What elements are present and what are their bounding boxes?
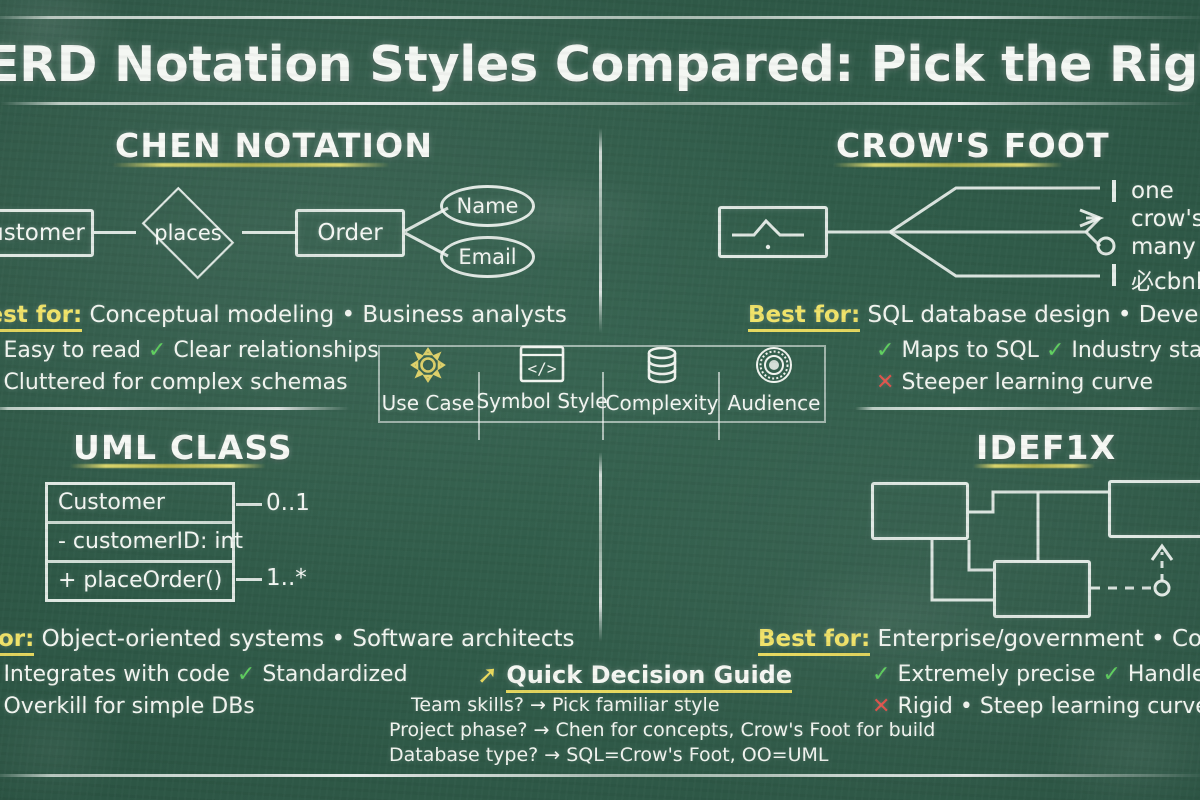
crows-foot-legend-one: one: [1131, 178, 1174, 204]
uml-class-name: Customer: [48, 485, 232, 521]
center-divider-top: [599, 128, 602, 333]
idef1x-con-1: Rigid • Steep learning curve: [897, 694, 1200, 719]
quick-guide-title-row: ➚ Quick Decision Guide: [477, 660, 792, 689]
section-heading-chen: CHEN NOTATION: [115, 126, 433, 165]
idef1x-best-for-value: Enterprise/government • Complex sy: [877, 626, 1200, 652]
legend-label-many: many: [1131, 234, 1196, 260]
crows-foot-best-for: Best for: SQL database design • Develope…: [748, 302, 1200, 328]
crows-foot-con-1: Steeper learning curve: [901, 370, 1153, 395]
chen-attribute-email: Email: [440, 236, 535, 278]
uml-multiplicity-connector-bottom: [236, 578, 262, 581]
crows-foot-best-for-label: Best for:: [748, 302, 860, 332]
chen-entity-customer-label: Customer: [0, 220, 85, 246]
chen-best-for-value: Conceptual modeling • Business analysts: [89, 302, 566, 328]
chen-entity-order-label: Order: [317, 220, 382, 246]
bottom-border-line: [0, 774, 1200, 777]
compare-cell-use-case[interactable]: Use Case: [372, 345, 484, 441]
uml-pro-1: Integrates with code: [3, 662, 229, 687]
uml-multiplicity-connector-top: [236, 503, 262, 506]
chen-cons: ✕ Cluttered for complex schemas: [0, 370, 348, 395]
compare-label-use-case: Use Case: [382, 391, 475, 415]
chalkboard-surface: ERD Notation Styles Compared: Pick the R…: [0, 0, 1200, 800]
section-heading-crows-foot: CROW'S FOOT: [836, 126, 1110, 165]
idef1x-connectors: [860, 470, 1200, 630]
center-divider-bottom: [599, 452, 602, 642]
crows-foot-pro-2: Industry stand: [1071, 338, 1200, 363]
crows-foot-cons: ✕ Steeper learning curve: [876, 370, 1153, 395]
idef1x-best-for: Best for: Enterprise/government • Comple…: [758, 626, 1200, 652]
idef1x-pros: ✓ Extremely precise ✓ Handles inh: [872, 662, 1200, 687]
uml-class-method: + placeOrder(): [48, 560, 232, 599]
chen-pro-1: Easy to read: [3, 338, 140, 363]
legend-label-fourth: 必cbnl: [1131, 269, 1200, 295]
uml-class-attribute: - customerID: int: [48, 521, 232, 560]
compare-label-audience: Audience: [728, 391, 821, 415]
check-icon: ✓: [148, 338, 166, 363]
uml-multiplicity-top: 0..1: [266, 490, 310, 516]
cross-icon: ✕: [876, 370, 894, 395]
heading-underline-chen: [112, 163, 390, 167]
check-icon: ✓: [876, 338, 894, 363]
quick-guide-title: Quick Decision Guide: [506, 661, 792, 693]
chen-relationship-places: places: [133, 197, 243, 269]
database-icon: [642, 345, 682, 385]
crows-foot-legend-fourth: 必cbnl: [1131, 262, 1200, 296]
compare-label-complexity: Complexity: [606, 391, 719, 415]
uml-multiplicity-bottom: 1..*: [266, 565, 307, 591]
chen-con-1: Cluttered for complex schemas: [3, 370, 347, 395]
chen-connector-2: [242, 231, 296, 234]
compare-cell-complexity[interactable]: Complexity: [606, 345, 718, 441]
section-heading-uml: UML CLASS: [73, 428, 293, 467]
crows-foot-legend-bars: [1108, 176, 1130, 286]
section-heading-idef1x: IDEF1X: [976, 428, 1116, 467]
title-divider-line: [0, 102, 1200, 105]
cross-icon: ✕: [872, 694, 890, 719]
idef1x-cons: ✕ Rigid • Steep learning curve: [872, 694, 1200, 719]
quick-guide-line-2: Project phase? → Chen for concepts, Crow…: [389, 719, 935, 741]
compare-cell-symbol-style[interactable]: </> Symbol Style: [486, 345, 598, 441]
crows-foot-legend-many: many: [1131, 234, 1196, 260]
crows-foot-legend-connectors: [828, 180, 1113, 285]
uml-best-for-label: for:: [0, 626, 34, 656]
check-icon: ✓: [872, 662, 890, 687]
uml-pros: ✓ Integrates with code ✓ Standardized: [0, 662, 408, 687]
check-icon: ✓: [1102, 662, 1120, 687]
chen-entity-customer: Customer: [0, 209, 94, 257]
chen-best-for-label: Best for:: [0, 302, 82, 332]
idef1x-pro-2: Handles inh: [1128, 662, 1200, 687]
chen-pros: ✓ Easy to read ✓ Clear relationships: [0, 338, 379, 363]
uml-pro-2: Standardized: [262, 662, 407, 687]
quick-guide-line-1: Team skills? → Pick familiar style: [411, 694, 720, 716]
crows-foot-pro-1: Maps to SQL: [901, 338, 1039, 363]
heading-underline-uml: [70, 464, 266, 468]
crows-foot-legend-crows: crow's: [1131, 206, 1200, 232]
lightning-bolt-icon: ➚: [477, 660, 498, 689]
uml-best-for: for: Object-oriented systems • Software …: [0, 626, 575, 652]
chen-best-for: Best for: Conceptual modeling • Business…: [0, 302, 567, 328]
crows-foot-entity-glyph: [728, 210, 820, 255]
crows-foot-pros: ✓ Maps to SQL ✓ Industry stand: [876, 338, 1200, 363]
chen-attribute-name: Name: [440, 185, 535, 227]
code-window-icon: </>: [519, 345, 565, 383]
crows-foot-best-for-value: SQL database design • Developers: [867, 302, 1200, 328]
legend-label-one: one: [1131, 178, 1174, 204]
check-icon: ✓: [1046, 338, 1064, 363]
compare-cell-audience[interactable]: Audience: [718, 345, 830, 441]
left-quadrant-divider: [0, 407, 350, 410]
right-quadrant-divider: [855, 407, 1200, 410]
chen-relationship-label: places: [154, 221, 221, 245]
compare-label-symbol-style: Symbol Style: [476, 389, 607, 413]
svg-text:</>: </>: [528, 359, 557, 378]
idef1x-pro-1: Extremely precise: [897, 662, 1095, 687]
chen-attribute-email-label: Email: [458, 245, 516, 269]
uml-class-box: Customer - customerID: int + placeOrder(…: [45, 482, 235, 602]
chen-entity-order: Order: [295, 209, 405, 257]
uml-cons: ✕ Overkill for simple DBs: [0, 694, 255, 719]
chen-connector-1: [94, 231, 136, 234]
top-border-line: [0, 16, 1200, 19]
page-title: ERD Notation Styles Compared: Pick the R…: [0, 36, 1200, 93]
legend-label-crows: crow's: [1131, 206, 1200, 232]
heading-underline-idef1x: [973, 464, 1095, 468]
idef1x-best-for-label: Best for:: [758, 626, 870, 656]
uml-con-1: Overkill for simple DBs: [3, 694, 254, 719]
heading-underline-crows-foot: [833, 163, 1063, 167]
uml-best-for-value: Object-oriented systems • Software archi…: [42, 626, 575, 652]
check-icon: ✓: [237, 662, 255, 687]
quick-guide-line-3: Database type? → SQL=Crow's Foot, OO=UML: [389, 744, 828, 766]
chen-pro-2: Clear relationships: [173, 338, 378, 363]
seal-badge-icon: [754, 345, 794, 385]
chen-attribute-name-label: Name: [457, 194, 519, 218]
gear-icon: [408, 345, 448, 385]
